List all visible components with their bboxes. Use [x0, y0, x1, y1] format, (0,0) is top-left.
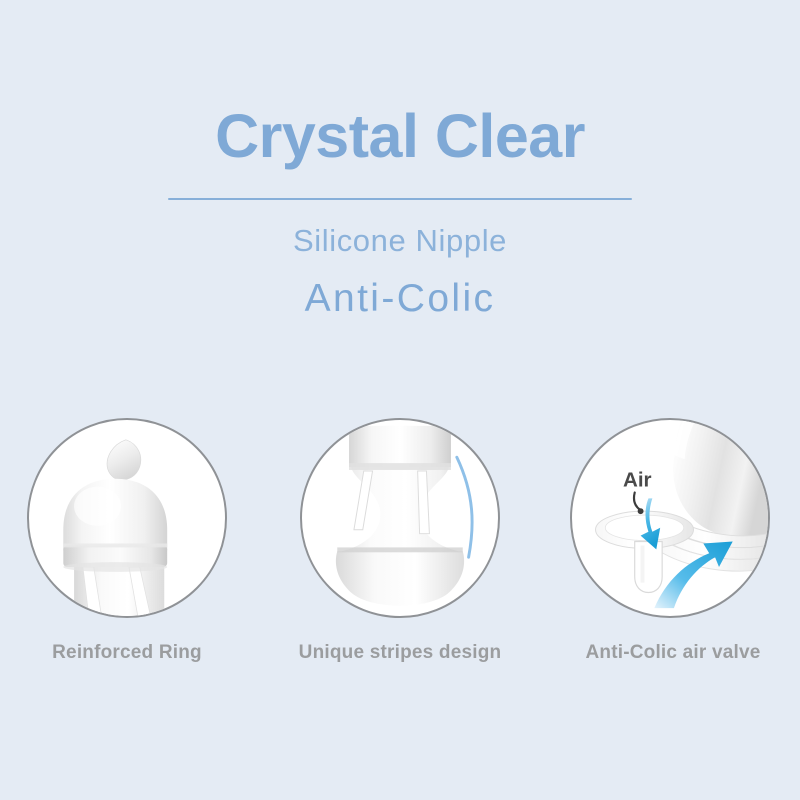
bottle-shoulder: [336, 551, 464, 605]
caption-unique-stripes: Unique stripes design: [254, 641, 546, 665]
page-title: Crystal Clear: [0, 104, 800, 168]
nipple-neck-with-stripes-illustration: [302, 420, 498, 616]
feature-image-air-valve: Air: [570, 418, 770, 618]
air-label: Air: [623, 469, 652, 492]
valve-stem-highlight: [641, 545, 645, 582]
stripe-left: [354, 471, 373, 530]
air-label-pointer: [634, 493, 641, 511]
caption-air-valve: Anti-Colic air valve: [546, 641, 800, 665]
product-feature-panel: Crystal Clear Silicone Nipple Anti-Colic: [0, 0, 800, 800]
collar-edge: [349, 463, 451, 470]
shoulder-seam: [337, 547, 462, 552]
dome-sheen: [74, 487, 121, 526]
valve-stem: [635, 542, 662, 593]
subtitle-silicone-nipple: Silicone Nipple: [0, 222, 800, 260]
air-valve-illustration: Air: [572, 420, 768, 616]
title-divider: [168, 198, 632, 200]
ring-highlight: [63, 543, 167, 547]
ring-shadow: [63, 562, 167, 572]
feature-image-reinforced-ring: [27, 418, 227, 618]
nipple-collar: [349, 426, 451, 467]
air-label-pointer-dot: [638, 508, 644, 514]
accent-arc: [457, 457, 472, 557]
nipple-dome-with-droplet-illustration: [29, 420, 225, 616]
milk-droplet: [103, 436, 147, 485]
caption-reinforced-ring: Reinforced Ring: [0, 641, 254, 665]
subtitle-anti-colic: Anti-Colic: [0, 276, 800, 322]
feature-image-unique-stripes: [300, 418, 500, 618]
